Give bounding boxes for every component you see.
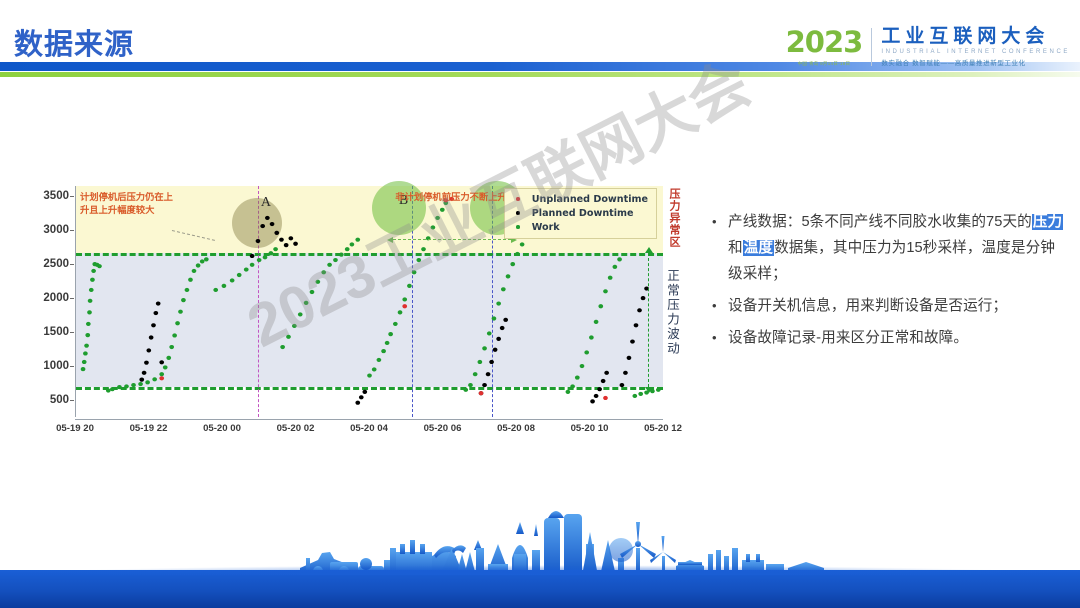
annotation-planned-downtime: 计划停机后压力仍在上升且上升幅度较大 bbox=[80, 191, 176, 218]
text-segment: 和 bbox=[728, 240, 743, 256]
y-axis-ticks: 500100015002000250030003500 bbox=[33, 186, 73, 417]
x-axis-tick: 05-19 22 bbox=[130, 423, 168, 434]
y-axis-tick: 2000 bbox=[43, 292, 69, 304]
legend-label: Unplanned Downtime bbox=[532, 194, 648, 205]
slide-footer bbox=[0, 508, 1080, 608]
legend-marker-icon bbox=[516, 211, 520, 215]
bullet-marker-icon: • bbox=[712, 326, 728, 352]
y-axis-tick: 2500 bbox=[43, 258, 69, 270]
annotation-right-double-arrow-icon bbox=[393, 239, 511, 240]
text-segment: 设备开关机信息，用来判断设备是否运行； bbox=[728, 298, 1007, 314]
zone-label-a: A bbox=[261, 195, 271, 211]
logo-year: 2023 bbox=[786, 28, 863, 57]
x-axis-tick: 05-20 04 bbox=[350, 423, 388, 434]
bullet-marker-icon: • bbox=[712, 210, 728, 288]
x-axis-tick: 05-20 10 bbox=[571, 423, 609, 434]
legend-label: Planned Downtime bbox=[532, 208, 634, 219]
logo-title-cn: 工业互联网大会 bbox=[881, 27, 1070, 48]
text-segment: 设备故障记录-用来区分正常和故障。 bbox=[728, 330, 968, 346]
logo-text-block: 工业互联网大会 INDUSTRIAL INTERNET CONFERENCE 数… bbox=[881, 27, 1070, 68]
x-axis-tick: 05-20 00 bbox=[203, 423, 241, 434]
side-label-abnormal: 压力异常区 bbox=[666, 188, 682, 248]
pressure-timeseries-chart: 500100015002000250030003500 A B C 计划停机后压… bbox=[33, 183, 681, 445]
highlighted-term: 压力 bbox=[1032, 214, 1063, 230]
bullet-text: 设备故障记录-用来区分正常和故障。 bbox=[728, 326, 968, 352]
legend-marker-icon bbox=[516, 197, 520, 201]
legend-item[interactable]: Work bbox=[510, 220, 648, 234]
page-title: 数据来源 bbox=[14, 21, 134, 63]
y-axis-tick: 3500 bbox=[43, 190, 69, 202]
legend-item[interactable]: Planned Downtime bbox=[510, 206, 648, 220]
normal-range-arrow-icon bbox=[648, 253, 649, 387]
legend-item[interactable]: Unplanned Downtime bbox=[510, 192, 648, 206]
bullet-item: •设备故障记录-用来区分正常和故障。 bbox=[712, 326, 1064, 352]
y-axis-tick: 3000 bbox=[43, 224, 69, 236]
y-axis-tick: 500 bbox=[50, 394, 69, 406]
y-axis-tick: 1000 bbox=[43, 360, 69, 372]
annotation-unplanned-downtime: 非计划停机前压力不断上升 bbox=[390, 191, 512, 204]
logo-divider bbox=[871, 28, 872, 66]
conference-logo: 2023 中国·青岛 9月14日-19日 工业互联网大会 INDUSTRIAL … bbox=[786, 18, 1070, 76]
x-axis-tick: 05-20 02 bbox=[277, 423, 315, 434]
chart-legend: Unplanned DowntimePlanned DowntimeWork bbox=[504, 188, 657, 239]
bullet-text: 设备开关机信息，用来判断设备是否运行； bbox=[728, 294, 1007, 320]
legend-label: Work bbox=[532, 222, 560, 233]
x-axis-ticks: 05-19 2005-19 2205-20 0005-20 0205-20 04… bbox=[75, 421, 663, 439]
slide-header: 数据来源 2023 中国·青岛 9月14日-19日 工业互联网大会 INDUST… bbox=[0, 0, 1080, 92]
x-axis-tick: 05-19 20 bbox=[56, 423, 94, 434]
footer-wave bbox=[0, 570, 1080, 608]
logo-title-en: INDUSTRIAL INTERNET CONFERENCE bbox=[881, 49, 1070, 55]
highlighted-term: 温度 bbox=[743, 240, 774, 256]
x-axis-tick: 05-20 12 bbox=[644, 423, 682, 434]
bullet-text: 产线数据：5条不同产线不同胶水收集的75天的压力和温度数据集，其中压力为15秒采… bbox=[728, 210, 1064, 288]
logo-year-block: 2023 中国·青岛 9月14日-19日 bbox=[786, 28, 872, 67]
y-axis-tick: 1500 bbox=[43, 326, 69, 338]
x-axis-tick: 05-20 06 bbox=[424, 423, 462, 434]
text-segment: 产线数据：5条不同产线不同胶水收集的75天的 bbox=[728, 214, 1032, 230]
bullet-list: •产线数据：5条不同产线不同胶水收集的75天的压力和温度数据集，其中压力为15秒… bbox=[712, 210, 1064, 358]
logo-slogan: 数实融合 数智赋能——高质量推进新型工业化 bbox=[881, 57, 1070, 67]
text-segment: 数据集，其中压力为15秒采样，温度是分钟级采样； bbox=[728, 240, 1055, 282]
legend-marker-icon bbox=[516, 225, 520, 229]
plot-area: A B C 计划停机后压力仍在上升且上升幅度较大 非计划停机前压力不断上升 Un… bbox=[75, 186, 663, 417]
x-axis-line bbox=[75, 419, 663, 420]
series-planned-downtime bbox=[139, 216, 649, 405]
x-axis-tick: 05-20 08 bbox=[497, 423, 535, 434]
bullet-marker-icon: • bbox=[712, 294, 728, 320]
logo-date: 中国·青岛 9月14日-19日 bbox=[798, 61, 851, 67]
side-label-normal: 正常压力波动 bbox=[663, 269, 682, 356]
bullet-item: •产线数据：5条不同产线不同胶水收集的75天的压力和温度数据集，其中压力为15秒… bbox=[712, 210, 1064, 288]
bullet-item: •设备开关机信息，用来判断设备是否运行； bbox=[712, 294, 1064, 320]
